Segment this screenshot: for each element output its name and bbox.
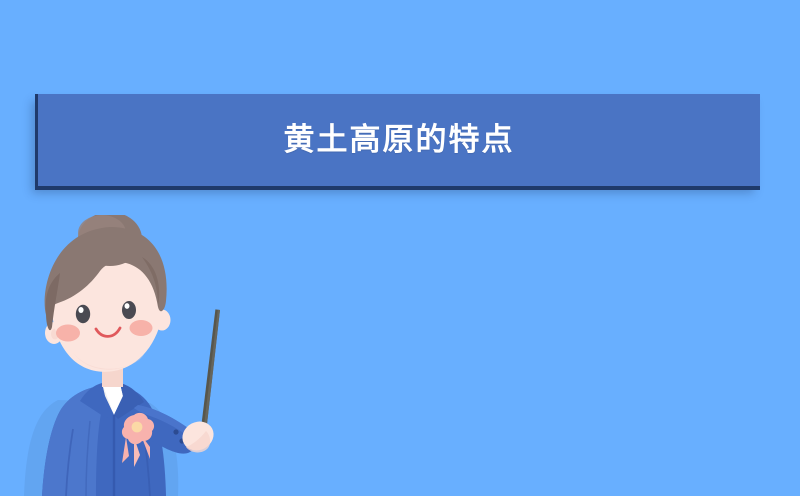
cuff-button: [173, 429, 178, 434]
teacher-illustration-svg: [10, 215, 250, 496]
teacher-head: [45, 215, 171, 387]
eye-right: [122, 301, 136, 319]
slide-canvas: 黄土高原的特点: [0, 0, 800, 496]
teacher-illustration: [10, 215, 250, 496]
eye-left: [76, 305, 90, 323]
cheek-right: [130, 320, 153, 336]
cheek-left: [56, 325, 80, 342]
page-title: 黄土高原的特点: [284, 125, 515, 156]
teacher-body: [24, 383, 197, 496]
pointer-stick: [201, 309, 221, 433]
title-banner: 黄土高原的特点: [38, 94, 760, 186]
